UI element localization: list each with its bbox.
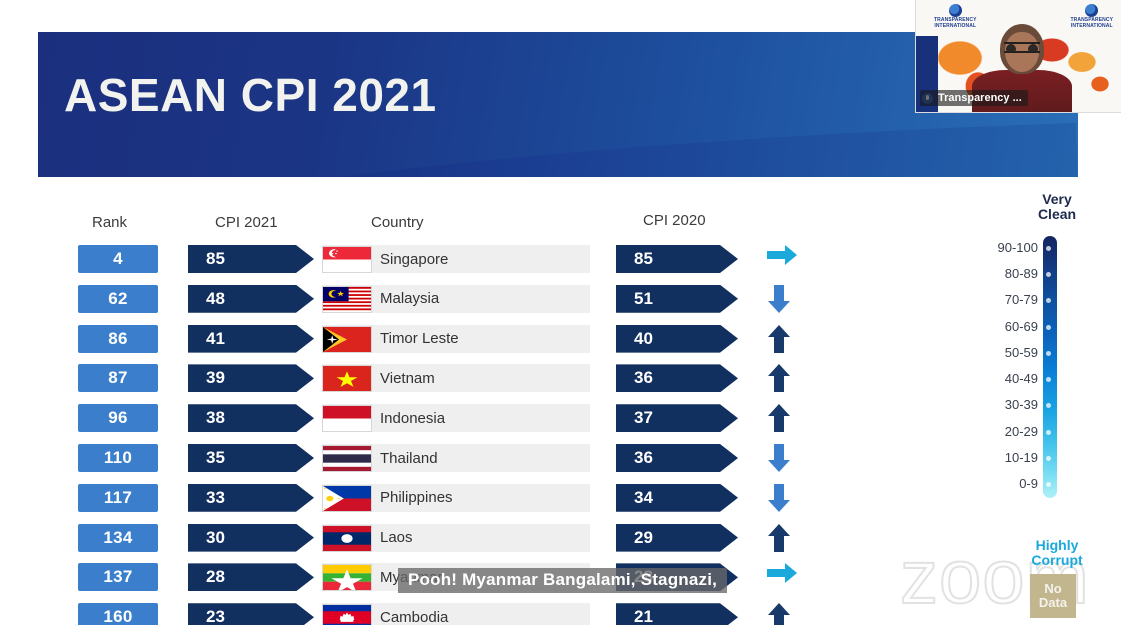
legend-band-label: 50-59 <box>1005 345 1038 360</box>
legend-band-label: 60-69 <box>1005 319 1038 334</box>
table-row: 8641Timor Leste40 <box>0 325 860 355</box>
rank-value: 4 <box>78 245 158 273</box>
cpi-2020-value: 29 <box>616 524 738 552</box>
cpi-2021-value: 33 <box>188 484 314 512</box>
cpi-2020-value: 36 <box>616 364 738 392</box>
legend-very-clean-label: Very Clean <box>1022 192 1092 221</box>
legend-very-clean-line1: Very <box>1042 191 1072 207</box>
legend-tick-mark <box>1046 325 1051 330</box>
rank-value: 160 <box>78 603 158 625</box>
participant-name-label: Transparency ... <box>920 90 1028 106</box>
column-header-rank: Rank <box>92 214 127 231</box>
country-label: Timor Leste <box>380 325 459 353</box>
legend-tick-mark <box>1046 246 1051 251</box>
transparency-international-logo-right: TRANSPARENCY INTERNATIONAL <box>1071 4 1114 30</box>
slide-canvas: zoom ASEAN CPI 2021 Rank CPI 2021 Countr… <box>0 0 1121 625</box>
cpi-2021-value: 48 <box>188 285 314 313</box>
country-label: Cambodia <box>380 603 448 625</box>
cpi-2021-value: 30 <box>188 524 314 552</box>
transparency-international-logo-left: TRANSPARENCY INTERNATIONAL <box>934 4 977 30</box>
cpi-2020-value: 36 <box>616 444 738 472</box>
ti-logo-right-line2: INTERNATIONAL <box>1071 23 1113 29</box>
legend-very-clean-line2: Clean <box>1038 206 1076 222</box>
table-row: 16023Cambodia21 <box>0 603 860 625</box>
legend-tick-mark <box>1046 430 1051 435</box>
legend-band-label: 20-29 <box>1005 424 1038 439</box>
legend-highly-corrupt-line1: Highly <box>1036 537 1079 553</box>
legend-band-label: 40-49 <box>1005 371 1038 386</box>
malaysia-flag <box>322 286 372 313</box>
legend-highly-corrupt-label: Highly Corrupt <box>1018 538 1096 567</box>
cpi-2020-value: 34 <box>616 484 738 512</box>
legend-band-label: 10-19 <box>1005 450 1038 465</box>
table-row: 485Singapore85 <box>0 245 860 275</box>
cpi-2021-value: 23 <box>188 603 314 625</box>
rank-value: 87 <box>78 364 158 392</box>
country-label: Laos <box>380 524 413 552</box>
cpi-2021-value: 38 <box>188 404 314 432</box>
trend-down-arrow-icon <box>766 483 800 513</box>
country-label: Singapore <box>380 245 448 273</box>
timor-leste-flag <box>322 326 372 353</box>
trend-up-arrow-icon <box>766 403 800 433</box>
singapore-flag <box>322 246 372 273</box>
table-row: 11035Thailand36 <box>0 444 860 474</box>
legend-tick-mark <box>1046 482 1051 487</box>
table-row: 8739Vietnam36 <box>0 364 860 394</box>
cpi-2021-value: 35 <box>188 444 314 472</box>
legend-band-label: 70-79 <box>1005 292 1038 307</box>
column-header-cpi-2021: CPI 2021 <box>215 214 278 231</box>
trend-up-arrow-icon <box>766 363 800 393</box>
cambodia-flag <box>322 604 372 625</box>
table-row: 9638Indonesia37 <box>0 404 860 434</box>
cpi-2020-value: 21 <box>616 603 738 625</box>
country-label: Thailand <box>380 444 438 472</box>
rank-value: 62 <box>78 285 158 313</box>
participant-video-tile[interactable]: TRANSPARENCY INTERNATIONAL TRANSPARENCY … <box>915 0 1121 113</box>
trend-up-arrow-icon <box>766 324 800 354</box>
column-header-cpi-2020: CPI 2020 <box>643 212 706 229</box>
rank-value: 86 <box>78 325 158 353</box>
thailand-flag <box>322 445 372 472</box>
cpi-2020-value: 40 <box>616 325 738 353</box>
legend-band-label: 90-100 <box>998 240 1038 255</box>
philippines-flag <box>322 485 372 512</box>
cpi-2021-value: 28 <box>188 563 314 591</box>
cpi-2021-value: 41 <box>188 325 314 353</box>
trend-flat-arrow-icon <box>766 244 800 274</box>
legend-tick-mark <box>1046 456 1051 461</box>
table-row: 6248Malaysia51 <box>0 285 860 315</box>
country-label: Indonesia <box>380 404 445 432</box>
rank-value: 134 <box>78 524 158 552</box>
legend-band-label: 0-9 <box>1019 476 1038 491</box>
cpi-2020-value: 37 <box>616 404 738 432</box>
cpi-2020-value: 51 <box>616 285 738 313</box>
indonesia-flag <box>322 405 372 432</box>
legend-highly-corrupt-line2: Corrupt <box>1031 552 1082 568</box>
rank-value: 117 <box>78 484 158 512</box>
rank-value: 137 <box>78 563 158 591</box>
live-caption-text: Pooh! Myanmar Bangalami, Stagnazi, <box>398 568 727 593</box>
cpi-2020-value: 85 <box>616 245 738 273</box>
legend-tick-mark <box>1046 351 1051 356</box>
trend-flat-arrow-icon <box>766 562 800 592</box>
trend-down-arrow-icon <box>766 443 800 473</box>
country-label: Malaysia <box>380 285 439 313</box>
legend-no-data-line1: No <box>1044 582 1061 596</box>
country-label: Philippines <box>380 484 453 512</box>
rank-value: 110 <box>78 444 158 472</box>
legend-band-label: 80-89 <box>1005 266 1038 281</box>
table-row: 11733Philippines34 <box>0 484 860 514</box>
legend-band-label: 30-39 <box>1005 397 1038 412</box>
trend-up-arrow-icon <box>766 523 800 553</box>
trend-up-arrow-icon <box>766 602 800 625</box>
legend-no-data-line2: Data <box>1039 596 1067 610</box>
country-label: Vietnam <box>380 364 435 392</box>
laos-flag <box>322 525 372 552</box>
globe-icon <box>949 4 962 17</box>
cpi-2021-value: 39 <box>188 364 314 392</box>
vietnam-flag <box>322 365 372 392</box>
globe-icon <box>1085 4 1098 17</box>
cpi-2021-value: 85 <box>188 245 314 273</box>
column-header-country: Country <box>371 214 424 231</box>
myanmar-flag <box>322 564 372 591</box>
legend-no-data-swatch: No Data <box>1030 574 1076 618</box>
glasses-icon <box>1004 42 1040 53</box>
ti-logo-left-line2: INTERNATIONAL <box>934 23 976 29</box>
table-row: 13430Laos29 <box>0 524 860 554</box>
rank-value: 96 <box>78 404 158 432</box>
trend-down-arrow-icon <box>766 284 800 314</box>
